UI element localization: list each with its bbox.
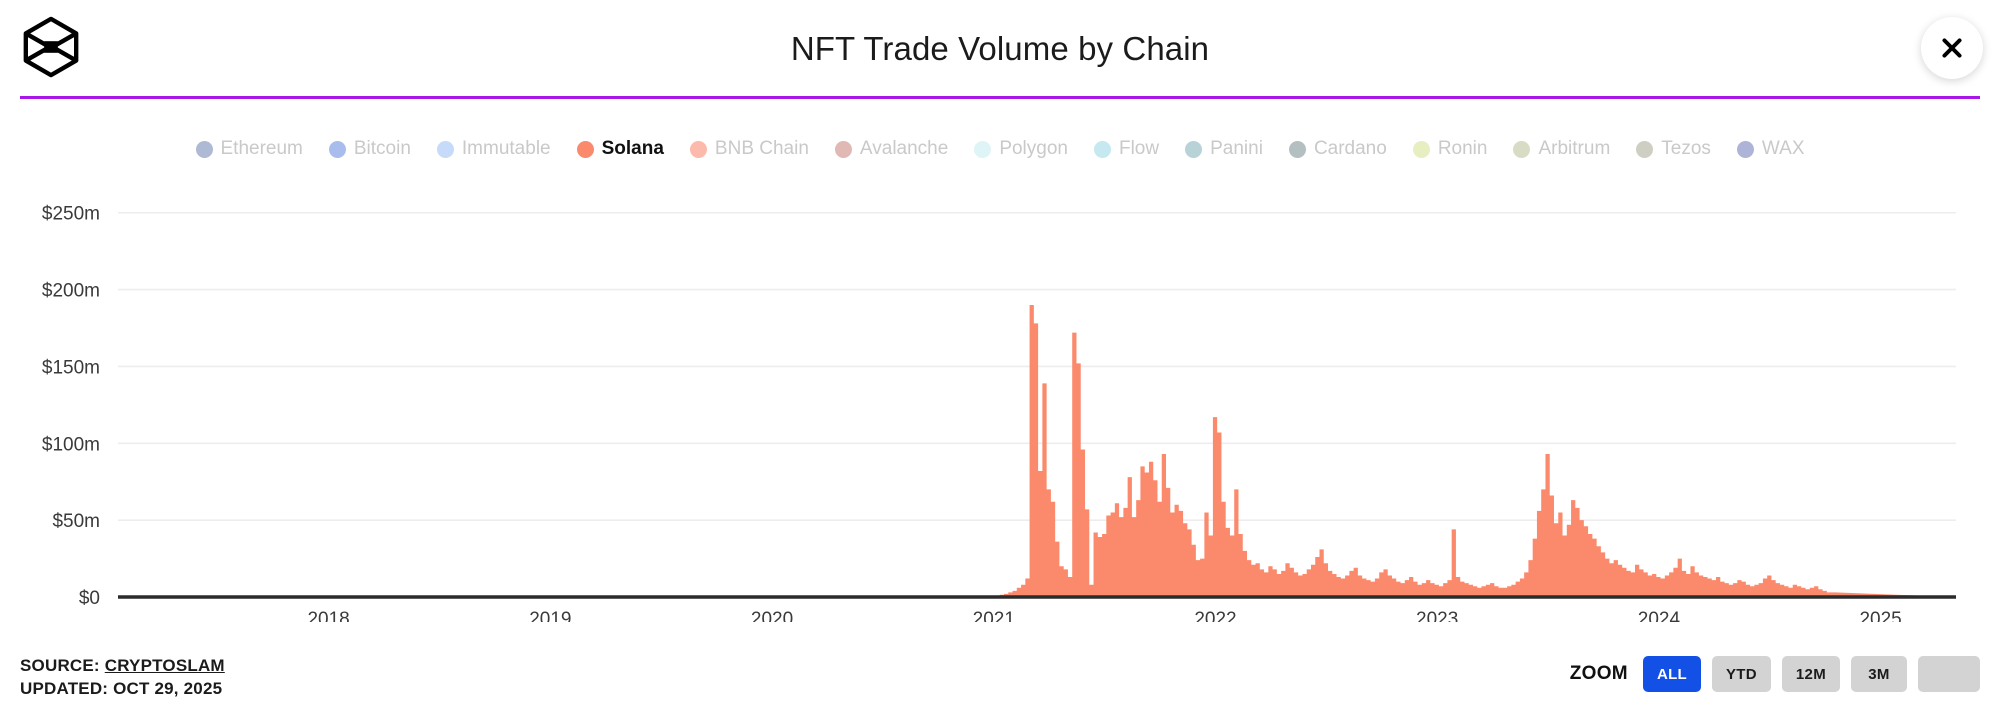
chart-plot-area: $0$50m$100m$150m$200m$250m20182019202020… [0,172,2000,622]
close-icon [1939,35,1965,61]
legend-item-polygon[interactable]: Polygon [974,138,1068,160]
legend-item-ronin[interactable]: Ronin [1413,138,1488,160]
x-axis-tick-label: 2018 [307,609,349,622]
legend-item-label: Tezos [1661,138,1711,160]
accent-divider [20,96,1980,99]
legend-item-label: Arbitrum [1538,138,1610,160]
x-axis-tick-label: 2020 [751,609,793,622]
legend-item-wax[interactable]: WAX [1737,138,1805,160]
zoom-button-12m[interactable]: 12M [1782,656,1840,692]
x-axis-tick-label: 2021 [973,609,1015,622]
x-axis-tick-label: 2022 [1194,609,1236,622]
y-axis-tick-label: $200m [42,281,100,302]
legend-item-label: Immutable [462,138,551,160]
legend-swatch-icon [974,141,991,158]
legend-item-label: WAX [1762,138,1805,160]
x-axis-tick-label: 2024 [1638,609,1681,622]
x-axis-tick-label: 2025 [1859,609,1901,622]
source-line: SOURCE: CRYPTOSLAM [20,654,225,677]
legend-item-bnb-chain[interactable]: BNB Chain [690,138,809,160]
y-axis-tick-label: $0 [79,588,100,609]
chart-legend: EthereumBitcoinImmutableSolanaBNB ChainA… [0,134,2000,164]
legend-item-arbitrum[interactable]: Arbitrum [1513,138,1610,160]
legend-swatch-icon [1413,141,1430,158]
legend-item-cardano[interactable]: Cardano [1289,138,1387,160]
source-prefix-label: SOURCE: [20,656,100,675]
y-axis-tick-label: $50m [52,511,100,532]
legend-swatch-icon [690,141,707,158]
zoom-button-ytd[interactable]: YTD [1712,656,1771,692]
x-axis-tick-label: 2023 [1416,609,1458,622]
footer: SOURCE: CRYPTOSLAM UPDATED: OCT 29, 2025… [0,648,2000,728]
legend-item-label: Avalanche [860,138,948,160]
legend-item-label: Ronin [1438,138,1488,160]
legend-item-panini[interactable]: Panini [1185,138,1263,160]
zoom-label: ZOOM [1570,663,1628,685]
y-axis-tick-label: $100m [42,434,100,455]
legend-swatch-icon [1636,141,1653,158]
zoom-button-3m[interactable]: 3M [1851,656,1907,692]
legend-swatch-icon [1737,141,1754,158]
chart-page: NFT Trade Volume by Chain EthereumBitcoi… [0,0,2000,728]
legend-item-label: Ethereum [221,138,303,160]
legend-swatch-icon [835,141,852,158]
legend-swatch-icon [1289,141,1306,158]
legend-item-ethereum[interactable]: Ethereum [196,138,303,160]
legend-item-solana[interactable]: Solana [577,138,664,160]
source-link[interactable]: CRYPTOSLAM [105,656,225,675]
legend-item-bitcoin[interactable]: Bitcoin [329,138,411,160]
close-button[interactable] [1921,17,1983,79]
legend-item-label: Panini [1210,138,1263,160]
legend-swatch-icon [577,141,594,158]
legend-swatch-icon [1094,141,1111,158]
x-axis-tick-label: 2019 [529,609,571,622]
y-axis-tick-label: $250m [42,204,100,225]
legend-item-label: BNB Chain [715,138,809,160]
y-axis-tick-label: $150m [42,357,100,378]
legend-item-avalanche[interactable]: Avalanche [835,138,948,160]
legend-item-label: Flow [1119,138,1159,160]
volume-area-chart[interactable]: $0$50m$100m$150m$200m$250m20182019202020… [0,172,2000,622]
zoom-controls: ZOOM ALLYTD12M3M [1570,656,1980,692]
series-area-solana[interactable] [118,305,1956,597]
legend-swatch-icon [437,141,454,158]
legend-swatch-icon [329,141,346,158]
legend-item-label: Bitcoin [354,138,411,160]
legend-item-tezos[interactable]: Tezos [1636,138,1711,160]
legend-item-label: Cardano [1314,138,1387,160]
legend-swatch-icon [1185,141,1202,158]
legend-swatch-icon [196,141,213,158]
legend-swatch-icon [1513,141,1530,158]
page-title: NFT Trade Volume by Chain [0,28,2000,70]
updated-label: UPDATED: OCT 29, 2025 [20,677,225,700]
header: NFT Trade Volume by Chain [0,0,2000,98]
legend-item-immutable[interactable]: Immutable [437,138,551,160]
zoom-button-all[interactable]: ALL [1643,656,1701,692]
zoom-button-custom[interactable] [1918,656,1980,692]
zoom-button-group: ALLYTD12M3M [1643,656,1980,692]
legend-item-flow[interactable]: Flow [1094,138,1159,160]
legend-item-label: Polygon [999,138,1068,160]
legend-item-label: Solana [602,138,664,160]
source-info: SOURCE: CRYPTOSLAM UPDATED: OCT 29, 2025 [20,654,225,700]
